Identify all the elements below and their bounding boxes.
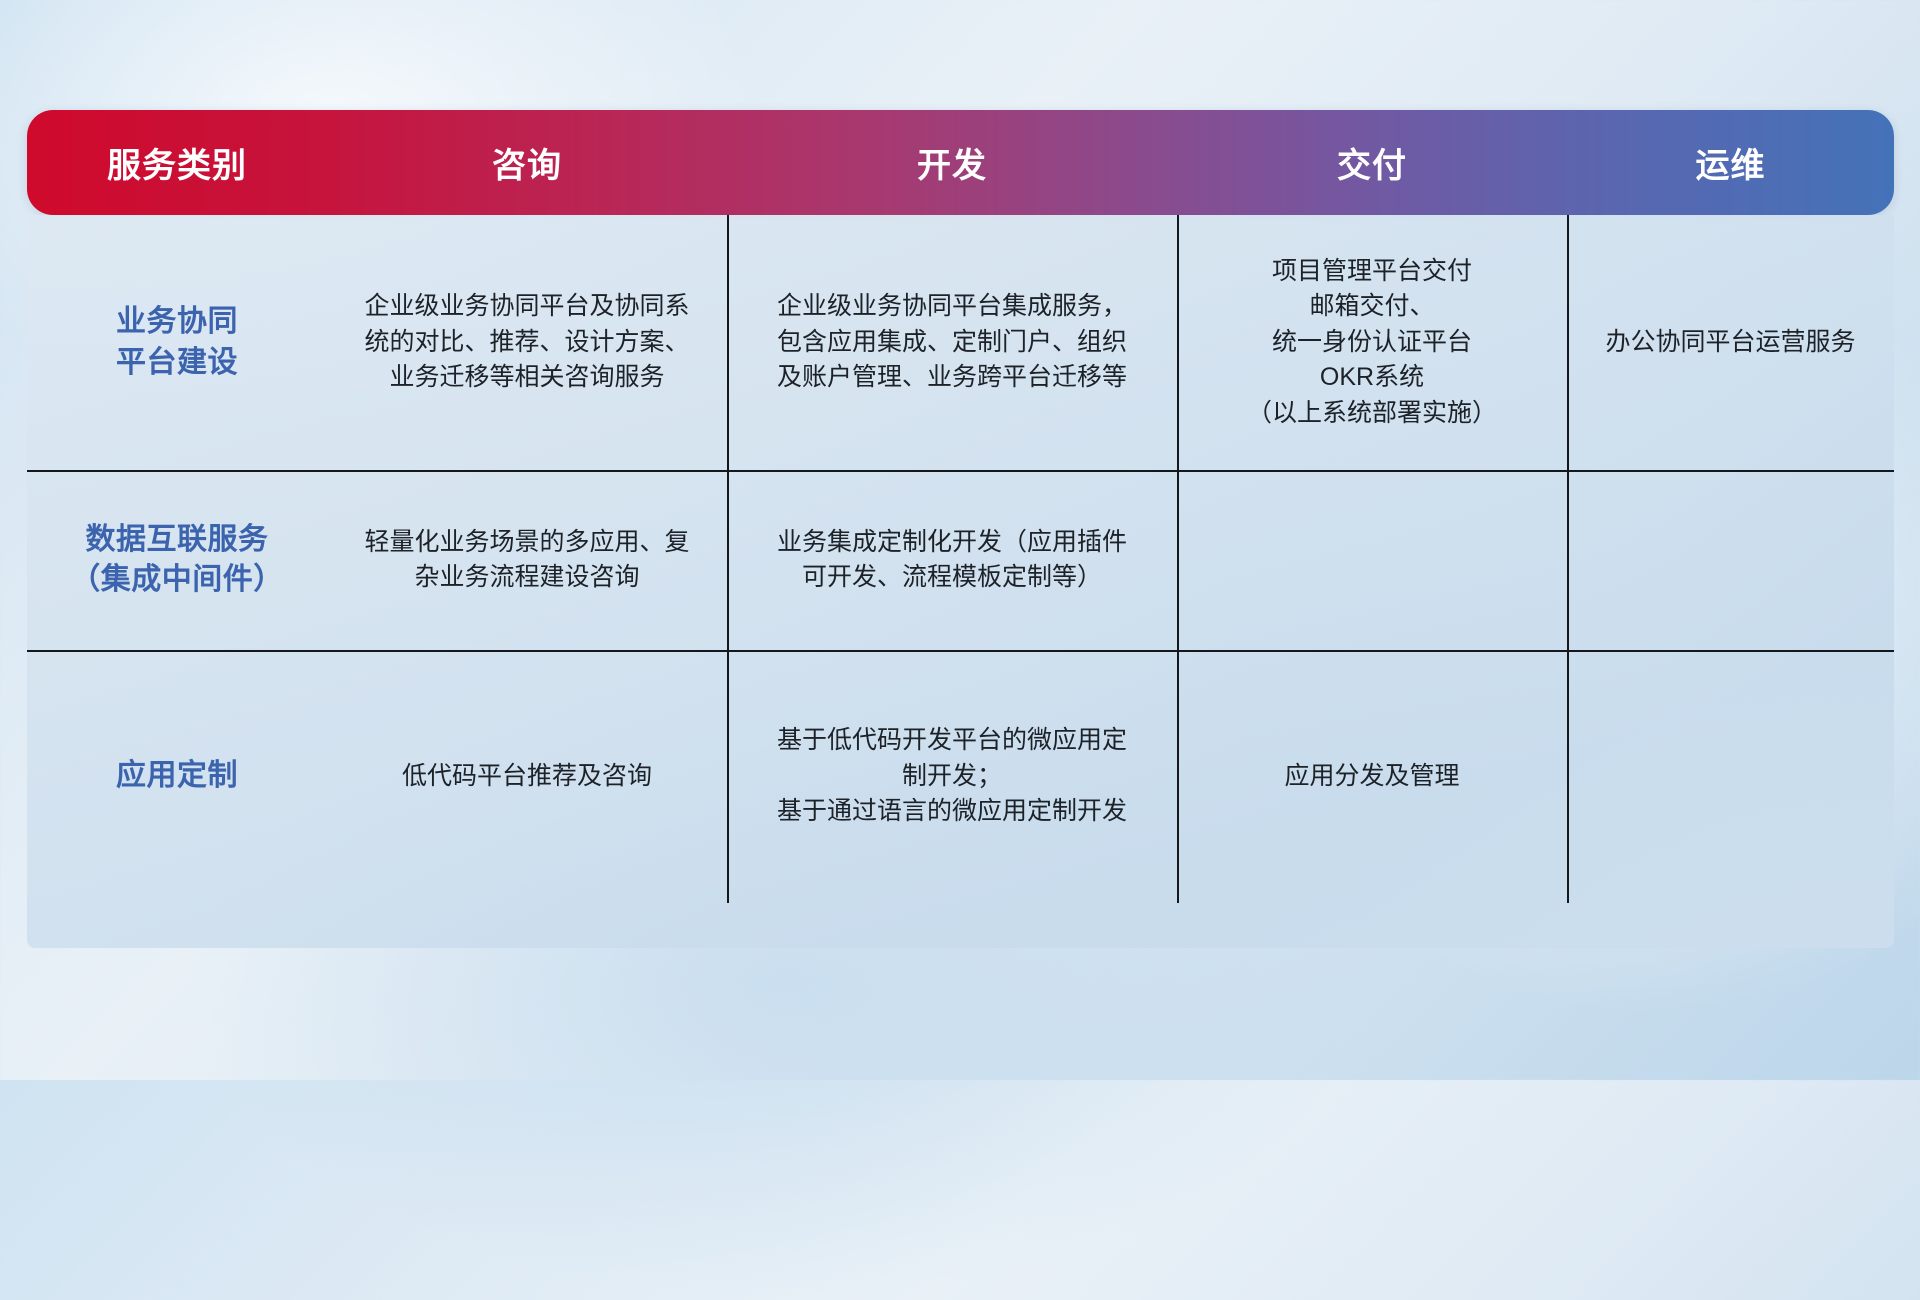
service-matrix-table: 服务类别 咨询 开发 交付 运维 业务协同 平台建设 企业级业务协同平台及协同系… [27,110,1894,948]
table-body: 业务协同 平台建设 企业级业务协同平台及协同系 统的对比、推荐、设计方案、 业务… [27,215,1894,948]
column-header-delivery: 交付 [1177,138,1567,187]
table-row: 业务协同 平台建设 企业级业务协同平台及协同系 统的对比、推荐、设计方案、 业务… [27,215,1894,470]
column-header-service-category: 服务类别 [27,138,327,187]
cell-row1-operations: 办公协同平台运营服务 [1567,325,1894,361]
column-header-consulting: 咨询 [327,138,727,187]
column-header-operations: 运维 [1567,138,1894,187]
column-header-development: 开发 [727,138,1177,187]
table-header-row: 服务类别 咨询 开发 交付 运维 [27,110,1894,215]
table-row: 应用定制 低代码平台推荐及咨询 基于低代码开发平台的微应用定 制开发； 基于通过… [27,650,1894,903]
table-row: 数据互联服务 （集成中间件） 轻量化业务场景的多应用、复 杂业务流程建设咨询 业… [27,470,1894,650]
row-label-data-interconnect: 数据互联服务 （集成中间件） [27,520,327,601]
cell-row3-development: 基于低代码开发平台的微应用定 制开发； 基于通过语言的微应用定制开发 [727,723,1177,830]
row-label-app-customization: 应用定制 [27,756,327,797]
cell-row1-consulting: 企业级业务协同平台及协同系 统的对比、推荐、设计方案、 业务迁移等相关咨询服务 [327,289,727,396]
cell-row2-consulting: 轻量化业务场景的多应用、复 杂业务流程建设咨询 [327,525,727,596]
cell-row2-development: 业务集成定制化开发（应用插件 可开发、流程模板定制等） [727,525,1177,596]
cell-row3-delivery: 应用分发及管理 [1177,759,1567,795]
cell-row3-consulting: 低代码平台推荐及咨询 [327,759,727,795]
row-label-business-collaboration: 业务协同 平台建设 [27,302,327,383]
cell-row1-delivery: 项目管理平台交付 邮箱交付、 统一身份认证平台 OKR系统 （以上系统部署实施） [1177,254,1567,432]
cell-row1-development: 企业级业务协同平台集成服务， 包含应用集成、定制门户、组织 及账户管理、业务跨平… [727,289,1177,396]
